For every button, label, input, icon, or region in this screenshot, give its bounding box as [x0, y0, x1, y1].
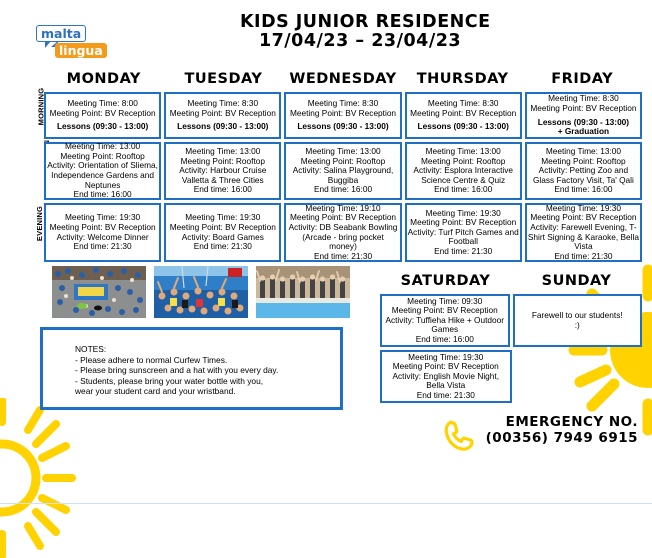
end-time: End time: 21:30 — [383, 391, 509, 401]
meeting-point: Meeting Point: BV Reception — [167, 109, 278, 119]
photo-strip — [52, 266, 350, 318]
cell-wednesday-evening[interactable]: Meeting Time: 19:10 Meeting Point: BV Re… — [284, 203, 401, 262]
cell-monday-evening[interactable]: Meeting Time: 19:30 Meeting Point: BV Re… — [44, 203, 161, 262]
activity: Activity: Orientation of Sliema, Indepen… — [47, 161, 158, 190]
meeting-point: Meeting Point: BV Reception — [408, 109, 519, 119]
end-time: End time: 21:30 — [287, 252, 398, 262]
activity: Activity: Farewell Evening, T-Shirt Sign… — [528, 223, 639, 252]
day-header-wednesday: WEDNESDAY — [283, 70, 403, 88]
cell-friday-morning[interactable]: Meeting Time: 8:30 Meeting Point: BV Rec… — [525, 92, 642, 139]
meeting-point: Meeting Point: BV Reception — [47, 109, 158, 119]
end-time: End time: 21:30 — [528, 252, 639, 262]
graduation-note: + Graduation — [528, 127, 639, 137]
weekly-schedule-grid: Meeting Time: 8:00 Meeting Point: BV Rec… — [44, 92, 642, 265]
emergency-contact-block: EMERGENCY NO. (00356) 7949 6915 — [486, 414, 638, 446]
activity: Activity: Salina Playground, Buggiba — [287, 166, 398, 185]
day-header-tuesday: TUESDAY — [164, 70, 284, 88]
period-label-column: MORNING AFTERNOON EVENING — [22, 92, 40, 268]
lessons-text: Lessons (09:30 - 13:00) — [47, 122, 158, 132]
lessons-text: Lessons (09:30 - 13:00) — [287, 122, 398, 132]
meeting-point: Meeting Point: BV Reception — [528, 104, 639, 114]
note-item: wear your student card and your wristban… — [75, 386, 340, 397]
lessons-text: Lessons (09:30 - 13:00) — [167, 122, 278, 132]
period-label-evening: EVENING — [22, 219, 40, 228]
activity: Activity: DB Seabank Bowling (Arcade - b… — [287, 223, 398, 252]
notes-box: NOTES: - Please adhere to normal Curfew … — [40, 327, 343, 410]
poolside-group-photo — [256, 266, 350, 318]
activity: Activity: Tuffieha Hike + Outdoor Games — [383, 316, 507, 335]
cell-thursday-evening[interactable]: Meeting Time: 19:30 Meeting Point: BV Re… — [405, 203, 522, 262]
cell-thursday-afternoon[interactable]: Meeting Time: 13:00 Meeting Point: Rooft… — [405, 142, 522, 200]
day-header-thursday: THURSDAY — [403, 70, 523, 88]
activity: Activity: Turf Pitch Games and Football — [408, 228, 519, 247]
page-title-block: KIDS JUNIOR RESIDENCE 17/04/23 – 23/04/2… — [240, 12, 480, 51]
page-title: KIDS JUNIOR RESIDENCE — [240, 12, 480, 32]
end-time: End time: 21:30 — [408, 247, 519, 257]
activity: Activity: Harbour Cruise Valletta & Thre… — [167, 166, 278, 185]
page-date-range: 17/04/23 – 23/04/23 — [240, 32, 480, 51]
weekend-schedule-grid: Meeting Time: 09:30 Meeting Point: BV Re… — [380, 294, 642, 406]
weekend-row-second: Meeting Time: 19:30 Meeting Point: BV Re… — [380, 350, 642, 403]
end-time: End time: 16:00 — [528, 185, 639, 195]
period-label-afternoon: AFTERNOON — [22, 160, 40, 169]
emergency-number: (00356) 7949 6915 — [486, 430, 638, 446]
activity: Activity: Petting Zoo and Glass Factory … — [528, 166, 639, 185]
cell-tuesday-morning[interactable]: Meeting Time: 8:30 Meeting Point: BV Rec… — [164, 92, 281, 139]
end-time: End time: 16:00 — [287, 185, 398, 195]
cell-saturday-day[interactable]: Meeting Time: 09:30 Meeting Point: BV Re… — [380, 294, 510, 347]
cell-empty-placeholder — [515, 350, 643, 403]
cell-wednesday-morning[interactable]: Meeting Time: 8:30 Meeting Point: BV Rec… — [284, 92, 401, 139]
schedule-row-evening: Meeting Time: 19:30 Meeting Point: BV Re… — [44, 203, 642, 262]
end-time: End time: 16:00 — [47, 190, 158, 200]
cell-saturday-evening[interactable]: Meeting Time: 19:30 Meeting Point: BV Re… — [380, 350, 512, 403]
aerial-group-photo-pavement — [52, 266, 146, 318]
schedule-row-morning: Meeting Time: 8:00 Meeting Point: BV Rec… — [44, 92, 642, 139]
boat-party-group-photo — [154, 266, 248, 318]
schedule-row-afternoon: Meeting Time: 13:00 Meeting Point: Rooft… — [44, 142, 642, 200]
cell-tuesday-evening[interactable]: Meeting Time: 19:30 Meeting Point: BV Re… — [164, 203, 281, 262]
end-time: End time: 16:00 — [167, 185, 278, 195]
end-time: End time: 21:30 — [167, 242, 278, 252]
lessons-text: Lessons (09:30 - 13:00) — [408, 122, 519, 132]
day-header-friday: FRIDAY — [522, 70, 642, 88]
activity: Activity: Esplora Interactive Science Ce… — [408, 166, 519, 185]
cell-friday-afternoon[interactable]: Meeting Time: 13:00 Meeting Point: Rooft… — [525, 142, 642, 200]
sun-decoration-left — [0, 398, 102, 558]
period-label-morning: MORNING — [22, 102, 40, 111]
cell-monday-morning[interactable]: Meeting Time: 8:00 Meeting Point: BV Rec… — [44, 92, 161, 139]
weekend-header-row: SATURDAY SUNDAY — [380, 272, 642, 290]
weekday-header-row: MONDAY TUESDAY WEDNESDAY THURSDAY FRIDAY — [44, 70, 642, 88]
day-header-saturday: SATURDAY — [380, 272, 511, 290]
emergency-label: EMERGENCY NO. — [486, 414, 638, 430]
day-header-monday: MONDAY — [44, 70, 164, 88]
end-time: End time: 16:00 — [408, 185, 519, 195]
cell-tuesday-afternoon[interactable]: Meeting Time: 13:00 Meeting Point: Rooft… — [164, 142, 281, 200]
meeting-point: Meeting Point: BV Reception — [287, 109, 398, 119]
cell-thursday-morning[interactable]: Meeting Time: 8:30 Meeting Point: BV Rec… — [405, 92, 522, 139]
note-item: - Please bring sunscreen and a hat with … — [75, 365, 340, 376]
cell-wednesday-afternoon[interactable]: Meeting Time: 13:00 Meeting Point: Rooft… — [284, 142, 401, 200]
cell-monday-afternoon[interactable]: Meeting Time: 13:00 Meeting Point: Rooft… — [44, 142, 161, 200]
end-time: End time: 21:30 — [47, 242, 158, 252]
activity: Activity: English Movie Night, Bella Vis… — [383, 372, 509, 391]
logo-text-lingua: lingua — [55, 43, 107, 58]
sunday-smiley: :) — [516, 321, 640, 331]
notes-title: NOTES: — [75, 344, 340, 355]
brand-logo: malta lingua — [36, 25, 120, 61]
weekend-row-first: Meeting Time: 09:30 Meeting Point: BV Re… — [380, 294, 642, 347]
end-time: End time: 16:00 — [383, 335, 507, 345]
day-header-sunday: SUNDAY — [511, 272, 642, 290]
cell-friday-evening[interactable]: Meeting Time: 19:30 Meeting Point: BV Re… — [525, 203, 642, 262]
note-item: - Please adhere to normal Curfew Times. — [75, 355, 340, 366]
note-item: - Students, please bring your water bott… — [75, 376, 340, 387]
cell-sunday[interactable]: Farewell to our students! :) — [513, 294, 643, 347]
phone-icon — [442, 418, 476, 452]
logo-text-malta: malta — [36, 25, 86, 42]
